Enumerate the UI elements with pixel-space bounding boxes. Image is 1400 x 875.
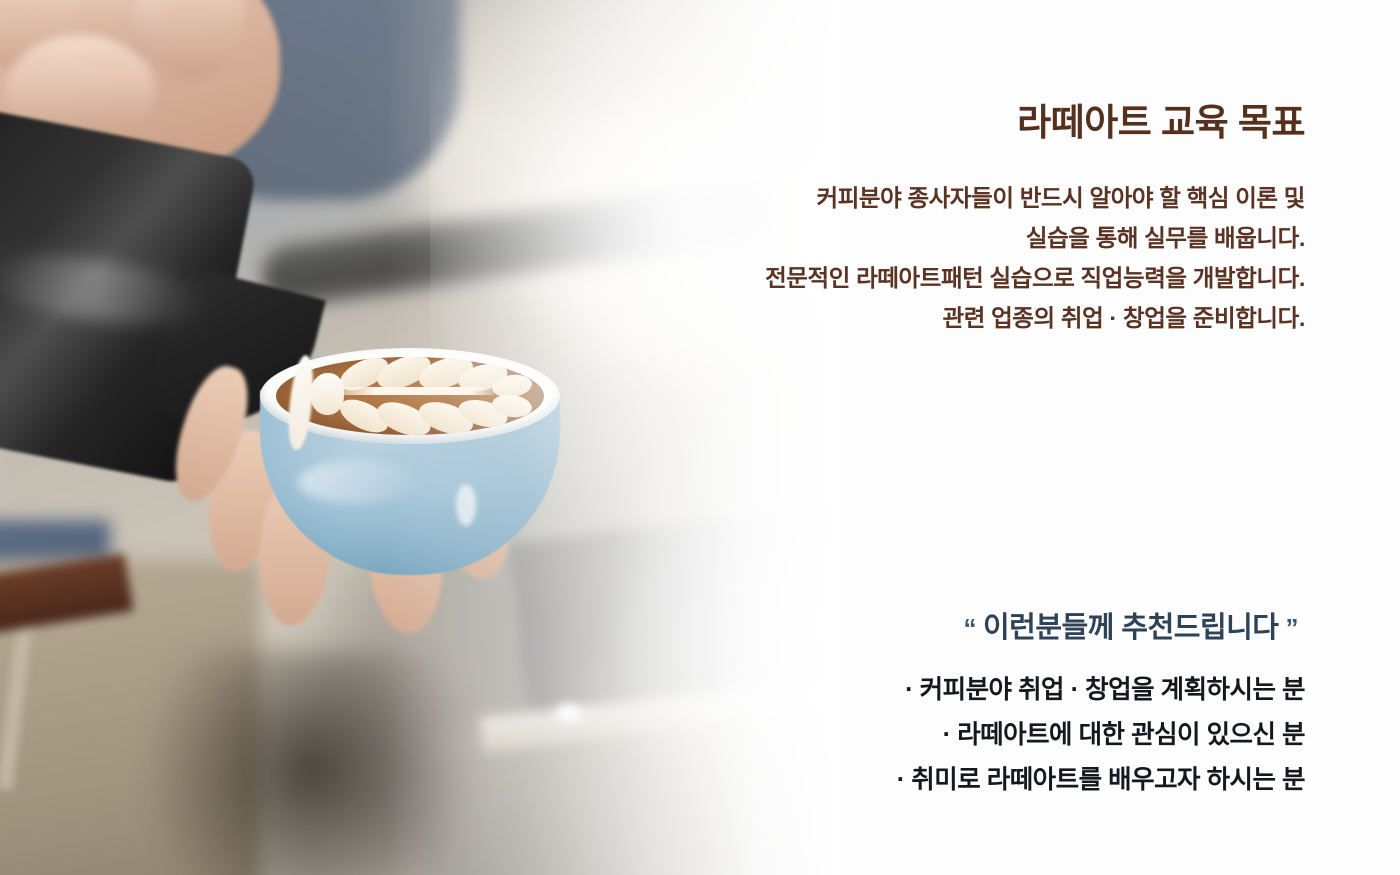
knuckle-3: [135, 0, 245, 80]
promo-banner: 라떼아트 교육 목표 커피분야 종사자들이 반드시 알아야 할 핵심 이론 및 …: [0, 0, 1400, 875]
recommend-item-1: · 커피분야 취업 · 창업을 계획하시는 분: [585, 668, 1305, 713]
goal-line-3: 전문적인 라떼아트패턴 실습으로 직업능력을 개발합니다.: [585, 258, 1305, 298]
goal-line-2: 실습을 통해 실무를 배웁니다.: [585, 218, 1305, 258]
recommend-item-2: · 라떼아트에 대한 관심이 있으신 분: [585, 713, 1305, 758]
cup-gloss-small: [456, 484, 476, 526]
goal-description: 커피분야 종사자들이 반드시 알아야 할 핵심 이론 및 실습을 통해 실무를 …: [585, 178, 1305, 338]
recommend-heading: “이런분들께 추천드립니다”: [585, 604, 1305, 646]
crema-surface: [276, 357, 544, 435]
recommend-heading-text: 이런분들께 추천드립니다: [983, 612, 1279, 644]
foreground-shadow: [140, 650, 480, 875]
counter-highlight: [556, 704, 582, 722]
goal-line-1: 커피분야 종사자들이 반드시 알아야 할 핵심 이론 및: [585, 178, 1305, 218]
recommend-list: · 커피분야 취업 · 창업을 계획하시는 분 · 라떼아트에 대한 관심이 있…: [585, 668, 1305, 803]
quote-close-mark: ”: [1279, 613, 1306, 643]
goal-line-4: 관련 업종의 취업 · 창업을 준비합니다.: [585, 298, 1305, 338]
cup-gloss-main: [298, 460, 418, 504]
rosetta-stem: [324, 387, 496, 395]
rosetta-head: [310, 373, 344, 415]
recommend-item-3: · 취미로 라떼아트를 배우고자 하시는 분: [585, 758, 1305, 803]
quote-open-mark: “: [956, 613, 983, 643]
goal-title: 라떼아트 교육 목표: [585, 92, 1305, 146]
banner-text-column: 라떼아트 교육 목표 커피분야 종사자들이 반드시 알아야 할 핵심 이론 및 …: [585, 0, 1305, 875]
